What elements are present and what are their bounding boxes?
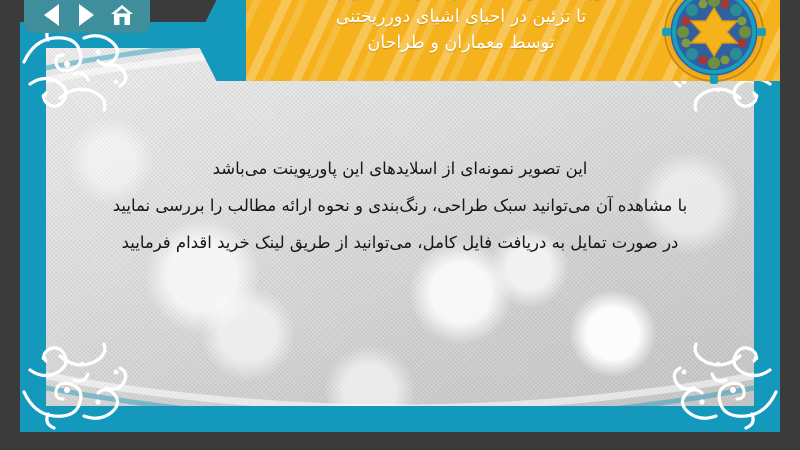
- back-button[interactable]: [39, 3, 65, 27]
- corner-ornament-bottom-right: [662, 328, 780, 432]
- triangle-left-icon: [44, 4, 59, 26]
- corner-ornament-top-left: [20, 22, 138, 126]
- slide-body-text: این تصویر نمونه‌ای از اسلایدهای این پاور…: [80, 150, 720, 261]
- forward-button[interactable]: [74, 3, 100, 27]
- body-line: این تصویر نمونه‌ای از اسلایدهای این پاور…: [80, 150, 720, 187]
- title-banner: بررسی طراحی معماری بازیافتی؛ از زباله تا…: [196, 0, 780, 81]
- navigation-bar: [24, 0, 150, 33]
- home-button[interactable]: [109, 3, 135, 27]
- slide-title: بررسی طراحی معماری بازیافتی؛ از زباله تا…: [254, 0, 668, 56]
- presentation-viewer: این تصویر نمونه‌ای از اسلایدهای این پاور…: [0, 0, 800, 450]
- corner-ornament-bottom-left: [20, 328, 138, 432]
- triangle-right-icon: [79, 4, 94, 26]
- home-icon: [110, 4, 134, 26]
- body-line: در صورت تمایل به دریافت فایل کامل، می‌تو…: [80, 224, 720, 261]
- slide-canvas: این تصویر نمونه‌ای از اسلایدهای این پاور…: [20, 22, 780, 432]
- banner-arrow-shape: [196, 0, 250, 81]
- body-line: با مشاهده آن می‌توانید سبک طراحی، رنگ‌بن…: [80, 187, 720, 224]
